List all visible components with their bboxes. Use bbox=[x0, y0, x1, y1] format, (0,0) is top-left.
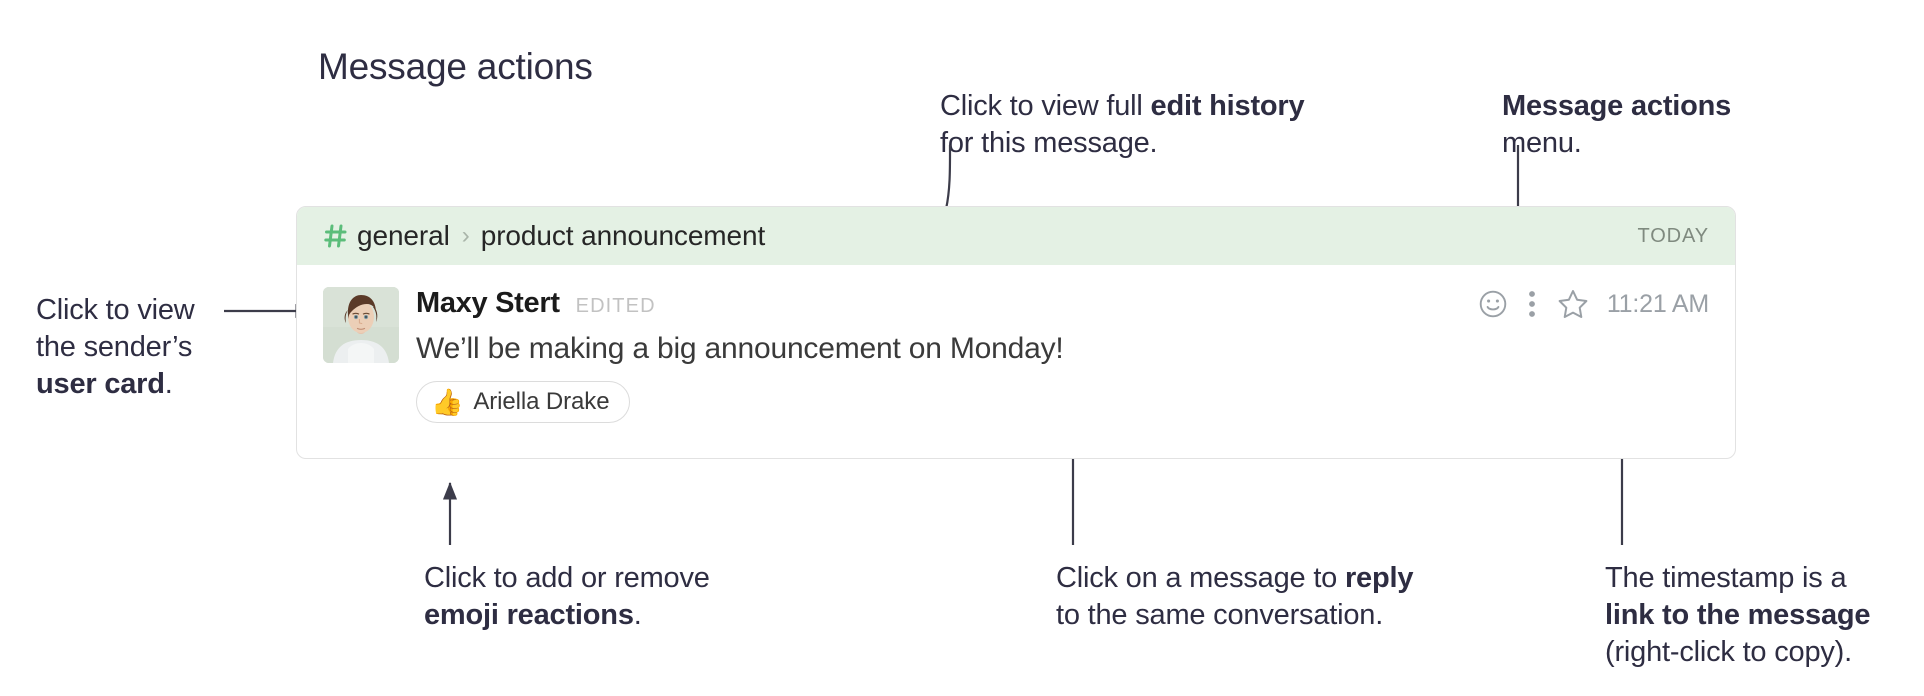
annotation-reply-prefix: Click on a message to bbox=[1056, 562, 1345, 594]
annotation-user-card: Click to view the sender’s user card. bbox=[36, 292, 246, 403]
annotation-edit-history-prefix: Click to view full bbox=[940, 90, 1151, 122]
annotation-emoji-reactions-prefix: Click to add or remove bbox=[424, 562, 710, 594]
message-actions-toolbar: 11:21 AM bbox=[1478, 287, 1709, 321]
annotation-user-card-bold: user card bbox=[36, 368, 165, 400]
annotation-actions-menu-bold: Message actions bbox=[1502, 90, 1731, 122]
emoji-add-icon[interactable] bbox=[1478, 289, 1508, 319]
reaction-pill[interactable]: 👍 Ariella Drake bbox=[416, 381, 630, 423]
hash-icon bbox=[323, 223, 349, 249]
annotation-reply-suffix: to the same conversation. bbox=[1056, 599, 1383, 631]
chevron-right-icon: › bbox=[462, 224, 470, 248]
annotation-actions-menu: Message actions menu. bbox=[1502, 88, 1802, 162]
avatar[interactable] bbox=[323, 287, 399, 363]
annotation-edit-history-bold: edit history bbox=[1151, 90, 1305, 122]
annotation-actions-menu-suffix: menu. bbox=[1502, 127, 1582, 159]
overflow-menu-icon[interactable] bbox=[1528, 290, 1536, 318]
page-title: Message actions bbox=[318, 45, 593, 89]
annotation-emoji-reactions-bold: emoji reactions bbox=[424, 599, 634, 631]
annotation-timestamp-bold: link to the message bbox=[1605, 599, 1870, 631]
annotation-reply: Click on a message to reply to the same … bbox=[1056, 560, 1456, 634]
sender-name[interactable]: Maxy Stert bbox=[416, 287, 560, 320]
annotation-user-card-suffix: . bbox=[165, 368, 173, 400]
message-text[interactable]: We’ll be making a big announcement on Mo… bbox=[416, 331, 1709, 367]
annotated-screenshot-page: Message actions Click to view full edit … bbox=[0, 0, 1924, 696]
annotation-edit-history: Click to view full edit history for this… bbox=[940, 88, 1370, 162]
annotation-timestamp: The timestamp is a link to the message (… bbox=[1605, 560, 1905, 671]
reaction-label: Ariella Drake bbox=[473, 388, 609, 416]
edited-badge[interactable]: EDITED bbox=[576, 295, 656, 318]
annotation-emoji-reactions: Click to add or remove emoji reactions. bbox=[424, 560, 784, 634]
breadcrumb-topic[interactable]: product announcement bbox=[481, 220, 765, 252]
annotation-timestamp-suffix: (right-click to copy). bbox=[1605, 636, 1852, 668]
thumbs-up-icon: 👍 bbox=[431, 389, 463, 415]
reactions-row: 👍 Ariella Drake bbox=[416, 381, 1709, 423]
date-label-today: TODAY bbox=[1637, 225, 1709, 248]
breadcrumb-channel[interactable]: general bbox=[357, 220, 450, 252]
star-icon[interactable] bbox=[1557, 288, 1589, 320]
annotation-emoji-reactions-suffix: . bbox=[634, 599, 642, 631]
annotation-user-card-prefix: Click to view the sender’s bbox=[36, 294, 195, 363]
message-timestamp-link[interactable]: 11:21 AM bbox=[1607, 290, 1709, 319]
annotation-timestamp-prefix: The timestamp is a bbox=[1605, 562, 1846, 594]
message-card: general › product announcement TODAY bbox=[296, 206, 1736, 459]
annotation-reply-bold: reply bbox=[1345, 562, 1413, 594]
channel-breadcrumb-header: general › product announcement TODAY bbox=[297, 207, 1735, 265]
annotation-edit-history-suffix: for this message. bbox=[940, 127, 1157, 159]
message-row[interactable]: Maxy Stert EDITED We’ll be making a big … bbox=[297, 265, 1735, 423]
